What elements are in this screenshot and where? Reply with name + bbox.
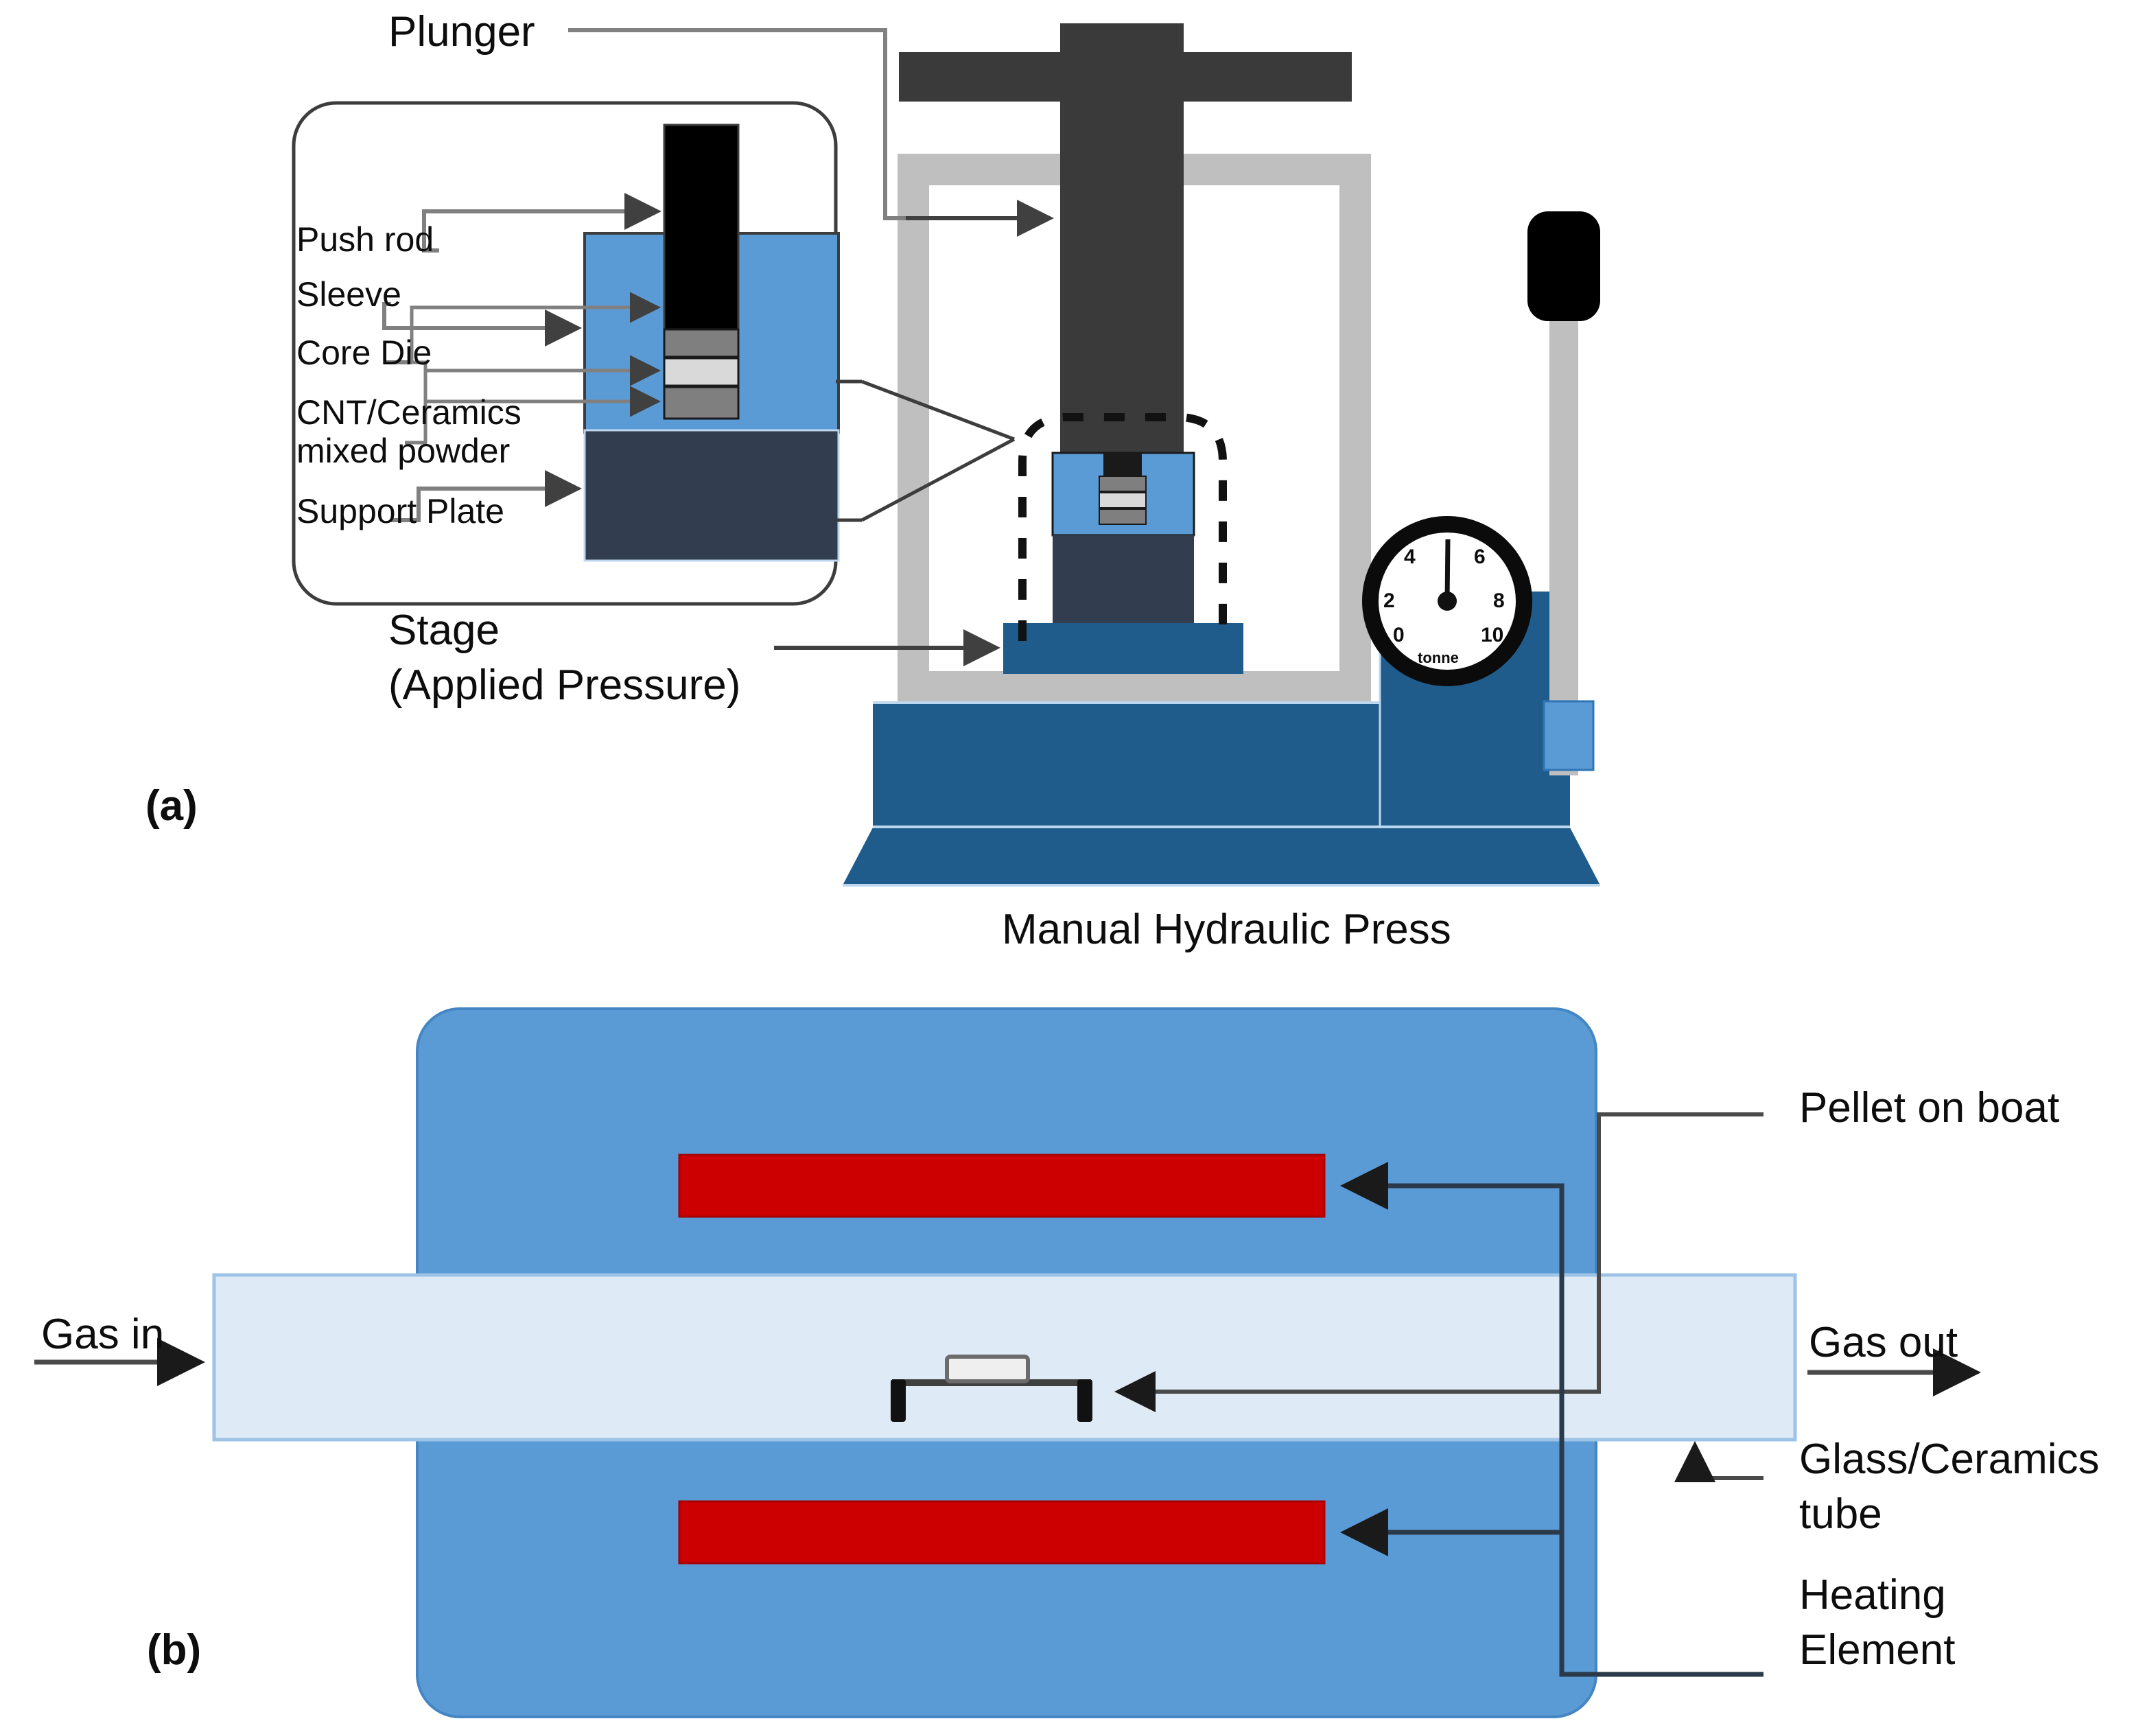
inset-label-push-rod: Push rod xyxy=(296,220,434,260)
panel-a-letter: (a) xyxy=(145,781,198,831)
tube-label-line1: Glass/Ceramics xyxy=(1799,1434,2100,1484)
gauge-tick-4: 4 xyxy=(1404,545,1416,569)
gauge-tick-8: 8 xyxy=(1493,589,1505,613)
inset-label-powder-line1: CNT/Ceramics xyxy=(296,393,522,433)
heating-element-bottom xyxy=(679,1501,1324,1563)
gauge-unit-label: tonne xyxy=(1418,649,1459,667)
gauge-tick-0: 0 xyxy=(1393,623,1405,647)
gas-out-label: Gas out xyxy=(1809,1318,1958,1368)
panel-b-letter: (b) xyxy=(147,1625,201,1675)
gas-in-label: Gas in xyxy=(41,1309,164,1359)
panel-b-artwork xyxy=(34,1009,1976,1717)
press-sleeve-stack xyxy=(1053,453,1194,645)
heating-element-top xyxy=(679,1155,1324,1217)
tube-label-line2: tube xyxy=(1799,1489,1882,1539)
plunger xyxy=(899,23,1352,520)
press-stage-plate xyxy=(1003,623,1243,674)
plunger-label: Plunger xyxy=(388,7,535,57)
gauge-tick-2: 2 xyxy=(1383,589,1395,613)
stage-label-line2: (Applied Pressure) xyxy=(388,660,740,710)
inset-label-sleeve: Sleeve xyxy=(296,274,401,315)
heating-element-label-line2: Element xyxy=(1799,1625,1955,1675)
figure-root: Plunger Push rod Sleeve Core Die CNT/Cer… xyxy=(0,0,2156,1732)
inset-label-support-plate: Support Plate xyxy=(296,491,504,532)
inset-label-core-die: Core Die xyxy=(296,333,432,373)
panel-a-caption: Manual Hydraulic Press xyxy=(1002,904,1451,955)
tube-leader xyxy=(1695,1445,1764,1478)
stage-label-line1: Stage xyxy=(388,605,500,655)
pellet-on-boat-label: Pellet on boat xyxy=(1799,1083,2059,1133)
gauge-tick-10: 10 xyxy=(1481,623,1503,647)
heating-element-label-line1: Heating xyxy=(1799,1570,1946,1620)
gauge-tick-6: 6 xyxy=(1474,545,1486,569)
inset-label-powder-line2: mixed powder xyxy=(296,431,510,471)
